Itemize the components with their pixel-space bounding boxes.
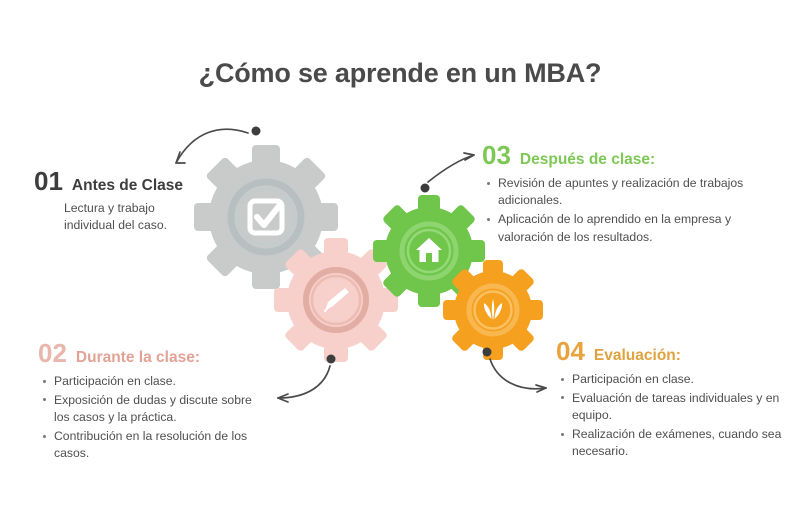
step-4-header: 04 Evaluación: (556, 338, 784, 364)
step-1-number: 01 (34, 168, 63, 194)
step-3-bullet-list: Revisión de apuntes y realización de tra… (482, 175, 744, 246)
step-block-2: 02 Durante la clase: Participación en cl… (38, 340, 268, 464)
list-item: Realización de exámenes, cuando sea nece… (572, 426, 784, 461)
step-1-header: 01 Antes de Clase (34, 168, 239, 194)
list-item: Participación en clase. (54, 373, 268, 390)
step-block-4: 04 Evaluación: Participación en clase. E… (556, 338, 784, 462)
infographic-canvas: ¿Cómo se aprende en un MBA? (0, 0, 800, 528)
step-2-bullet-list: Participación en clase. Exposición de du… (38, 373, 268, 463)
step-2-heading: Durante la clase: (76, 349, 200, 366)
arrow-to-step-1 (176, 127, 261, 164)
step-4-bullet-list: Participación en clase. Evaluación de ta… (556, 371, 784, 461)
gear-step-4 (443, 260, 543, 360)
arrow-to-step-3 (421, 153, 475, 193)
step-block-3: 03 Después de clase: Revisión de apuntes… (482, 142, 744, 247)
list-item: Exposición de dudas y discute sobre los … (54, 392, 268, 427)
step-1-heading: Antes de Clase (72, 177, 183, 194)
step-2-number: 02 (38, 340, 67, 366)
step-1-line-2: individual del caso. (64, 217, 239, 234)
list-item: Participación en clase. (572, 371, 784, 388)
step-4-heading: Evaluación: (594, 347, 681, 364)
step-3-heading: Después de clase: (520, 151, 655, 168)
list-item: Revisión de apuntes y realización de tra… (498, 175, 744, 210)
list-item: Contribución en la resolución de los cas… (54, 428, 268, 463)
step-3-number: 03 (482, 142, 511, 168)
step-4-number: 04 (556, 338, 585, 364)
step-3-header: 03 Después de clase: (482, 142, 744, 168)
step-block-1: 01 Antes de Clase Lectura y trabajo indi… (34, 168, 239, 235)
step-2-header: 02 Durante la clase: (38, 340, 268, 366)
step-1-description: Lectura y trabajo individual del caso. (34, 200, 239, 235)
list-item: Aplicación de lo aprendido en la empresa… (498, 211, 744, 246)
list-item: Evaluación de tareas individuales y en e… (572, 390, 784, 425)
step-1-line-1: Lectura y trabajo (64, 200, 239, 217)
